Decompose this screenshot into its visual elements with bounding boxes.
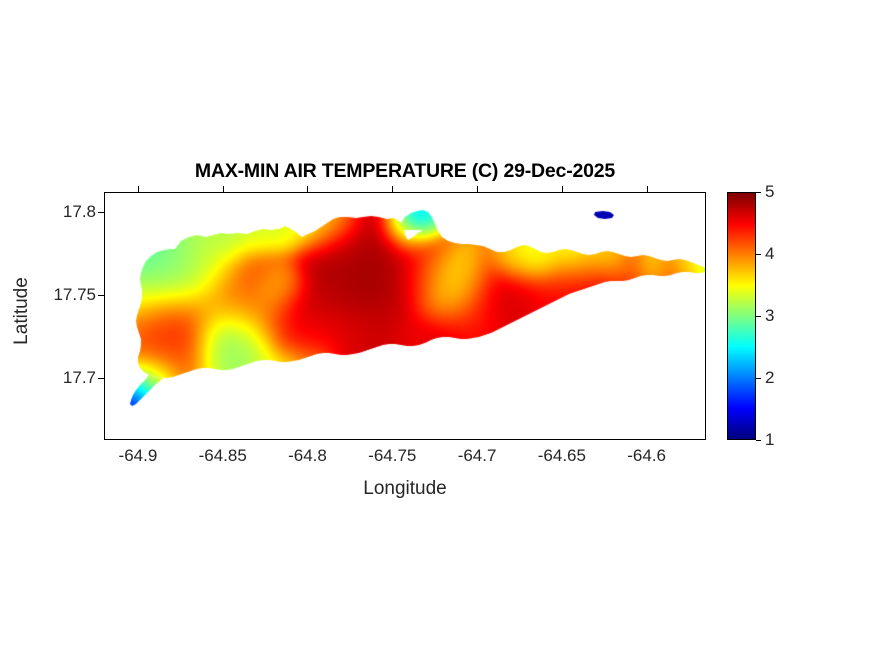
x-tick-label: -64.65 (538, 446, 586, 466)
x-tick-label: -64.9 (119, 446, 158, 466)
colorbar-tick-label: 3 (765, 306, 774, 326)
x-tick-mark (562, 186, 563, 192)
page-title: MAX-MIN AIR TEMPERATURE (C) 29-Dec-2025 (104, 160, 706, 183)
colorbar-gradient (728, 193, 755, 439)
x-tick-label: -64.75 (368, 446, 416, 466)
temperature-heatmap-canvas (105, 193, 706, 440)
colorbar-tick-label: 4 (765, 244, 774, 264)
x-axis-label: Longitude (104, 478, 706, 500)
y-axis-label: Latitude (11, 251, 33, 371)
colorbar-tick-mark (756, 378, 761, 379)
y-tick-label: 17.8 (63, 202, 96, 222)
colorbar[interactable] (727, 192, 756, 440)
colorbar-tick-mark (756, 316, 761, 317)
x-tick-label: -64.6 (627, 446, 666, 466)
y-tick-mark (98, 378, 104, 379)
y-tick-label: 17.7 (63, 368, 96, 388)
x-tick-mark (307, 186, 308, 192)
colorbar-tick-mark (756, 440, 761, 441)
matlab-figure: MAX-MIN AIR TEMPERATURE (C) 29-Dec-2025 … (0, 0, 875, 656)
x-tick-mark (138, 186, 139, 192)
colorbar-tick-mark (756, 254, 761, 255)
x-tick-mark (223, 186, 224, 192)
y-tick-label: 17.75 (53, 285, 96, 305)
colorbar-tick-mark (756, 192, 761, 193)
x-tick-label: -64.7 (458, 446, 497, 466)
x-tick-mark (477, 186, 478, 192)
x-tick-mark (647, 186, 648, 192)
colorbar-tick-label: 2 (765, 368, 774, 388)
y-tick-mark (98, 212, 104, 213)
x-tick-mark (392, 186, 393, 192)
x-tick-label: -64.8 (288, 446, 327, 466)
colorbar-tick-label: 1 (765, 430, 774, 450)
map-axes[interactable] (104, 192, 706, 440)
x-tick-label: -64.85 (199, 446, 247, 466)
colorbar-tick-label: 5 (765, 182, 774, 202)
y-tick-mark (98, 295, 104, 296)
